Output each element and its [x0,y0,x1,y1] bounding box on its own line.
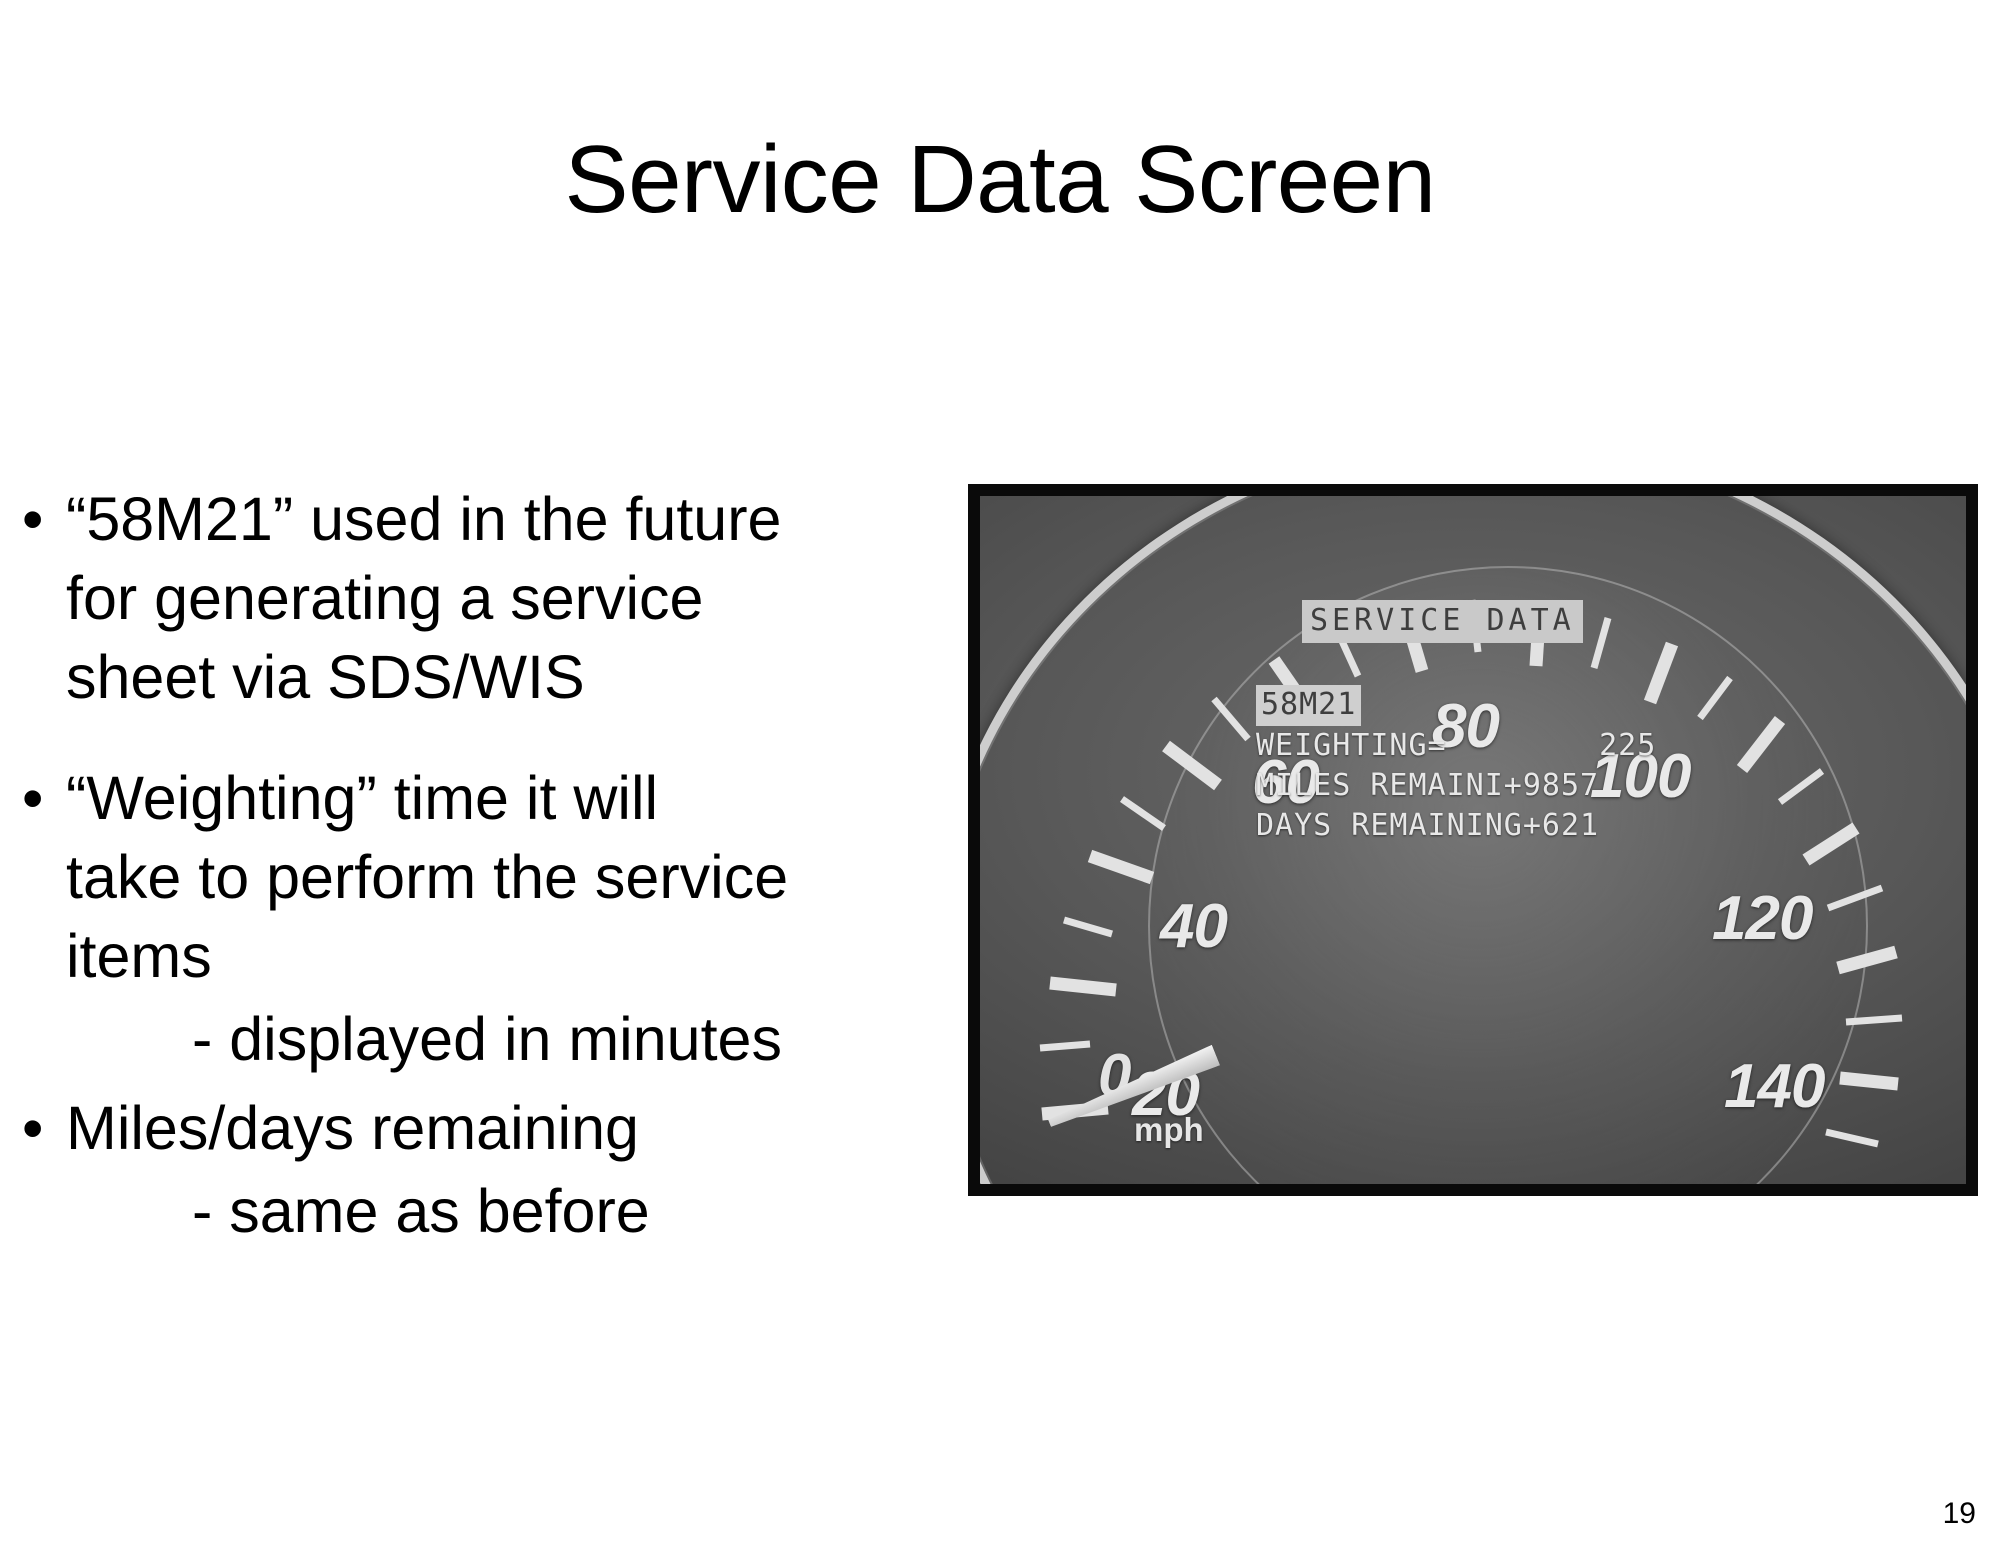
bullet-line: “Weighting” time it will [66,759,922,838]
lcd-row-days-remaining: DAYS REMAINING+621 [1256,806,1686,846]
bullet-row: • Miles/days remaining [22,1089,922,1168]
bullet-row: • “Weighting” time it will take to perfo… [22,759,922,996]
bullet-sub-line: - same as before [22,1172,922,1251]
bullet-line: for generating a service [66,559,922,638]
gauge-number-120: 120 [1712,888,1812,950]
lcd-row-miles-remaining: MILES REMAINI+9857 [1256,766,1686,806]
bullet-list: • “58M21” used in the future for generat… [22,480,922,1251]
page-title: Service Data Screen [0,128,2000,232]
bullet-item: • “Weighting” time it will take to perfo… [22,759,922,1079]
bullet-line: items [66,917,922,996]
bullet-item: • “58M21” used in the future for generat… [22,480,922,717]
lcd-service-code: 58M21 [1256,685,1361,726]
bullet-text: “Weighting” time it will take to perform… [66,759,922,996]
bullet-text: Miles/days remaining [66,1089,922,1168]
lcd-row-weighting: WEIGHTING= 225 [1256,726,1686,766]
bullet-text: “58M21” used in the future for generatin… [66,480,922,717]
bullet-marker-icon: • [22,759,66,838]
lcd-header: SERVICE DATA [1302,600,1583,643]
bullet-marker-icon: • [22,1089,66,1168]
page-number: 19 [1943,1497,1976,1531]
bullet-line: take to perform the service [66,838,922,917]
gauge-number-140: 140 [1724,1056,1824,1118]
gauge-unit-label: mph [1134,1111,1204,1149]
bullet-line: Miles/days remaining [66,1089,922,1168]
bullet-row: • “58M21” used in the future for generat… [22,480,922,717]
bullet-sub-line: - displayed in minutes [22,1000,922,1079]
speedometer-face: 20 40 60 80 100 120 140 160 0 mph SERVIC… [980,496,1966,1184]
bullet-marker-icon: • [22,480,66,559]
lcd-body: 58M21 WEIGHTING= 225 MILES REMAINI+9857 … [1256,685,1686,846]
lcd-service-data-panel: SERVICE DATA 58M21 WEIGHTING= 225 MILES … [1256,600,1686,846]
gauge-number-40: 40 [1160,896,1227,958]
bullet-line: “58M21” used in the future [66,480,922,559]
bullet-line: sheet via SDS/WIS [66,638,922,717]
instrument-cluster-photo: 20 40 60 80 100 120 140 160 0 mph SERVIC… [968,484,1978,1196]
bullet-item: • Miles/days remaining - same as before [22,1089,922,1251]
